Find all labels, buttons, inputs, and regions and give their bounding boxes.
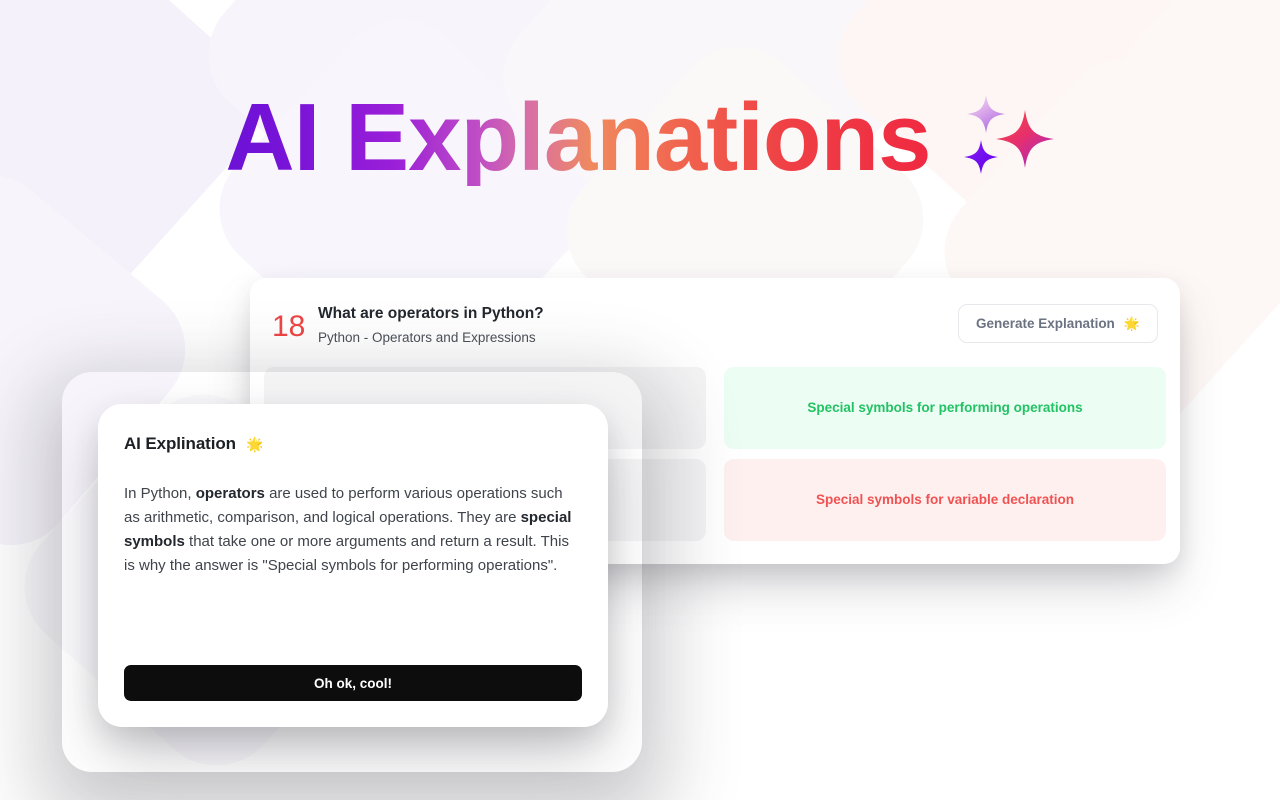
question-number: 18 — [272, 312, 318, 342]
page-title: AI Explanations — [225, 90, 930, 186]
ai-text-part-1: In Python, — [124, 485, 196, 502]
question-text-block: What are operators in Python? Python - O… — [318, 300, 958, 347]
sparkle-star-icon: 🌟 — [246, 437, 263, 451]
answer-option-2-correct[interactable]: Special symbols for performing operation… — [724, 367, 1166, 449]
app-root: AI Explanations — [0, 0, 1280, 800]
question-title: What are operators in Python? — [318, 304, 958, 325]
generate-explanation-button[interactable]: Generate Explanation 🌟 — [958, 304, 1158, 343]
sparkles-icon — [955, 88, 1055, 188]
sparkle-star-icon: 🌟 — [1124, 317, 1140, 330]
page-header: AI Explanations — [0, 88, 1280, 188]
ai-explanation-modal: AI Explination 🌟 In Python, operators ar… — [98, 404, 608, 727]
ai-explanation-text: In Python, operators are used to perform… — [124, 482, 582, 578]
ai-modal-header: AI Explination 🌟 — [124, 434, 582, 454]
ai-text-bold-1: operators — [196, 485, 265, 502]
quiz-card-header: 18 What are operators in Python? Python … — [250, 278, 1180, 347]
ai-modal-title: AI Explination — [124, 434, 236, 454]
ai-text-part-3: that take one or more arguments and retu… — [124, 533, 569, 574]
ai-modal-confirm-button[interactable]: Oh ok, cool! — [124, 665, 582, 701]
generate-explanation-label: Generate Explanation — [976, 316, 1115, 331]
question-subtitle: Python - Operators and Expressions — [318, 329, 958, 347]
answer-option-4-wrong[interactable]: Special symbols for variable declaration — [724, 459, 1166, 541]
